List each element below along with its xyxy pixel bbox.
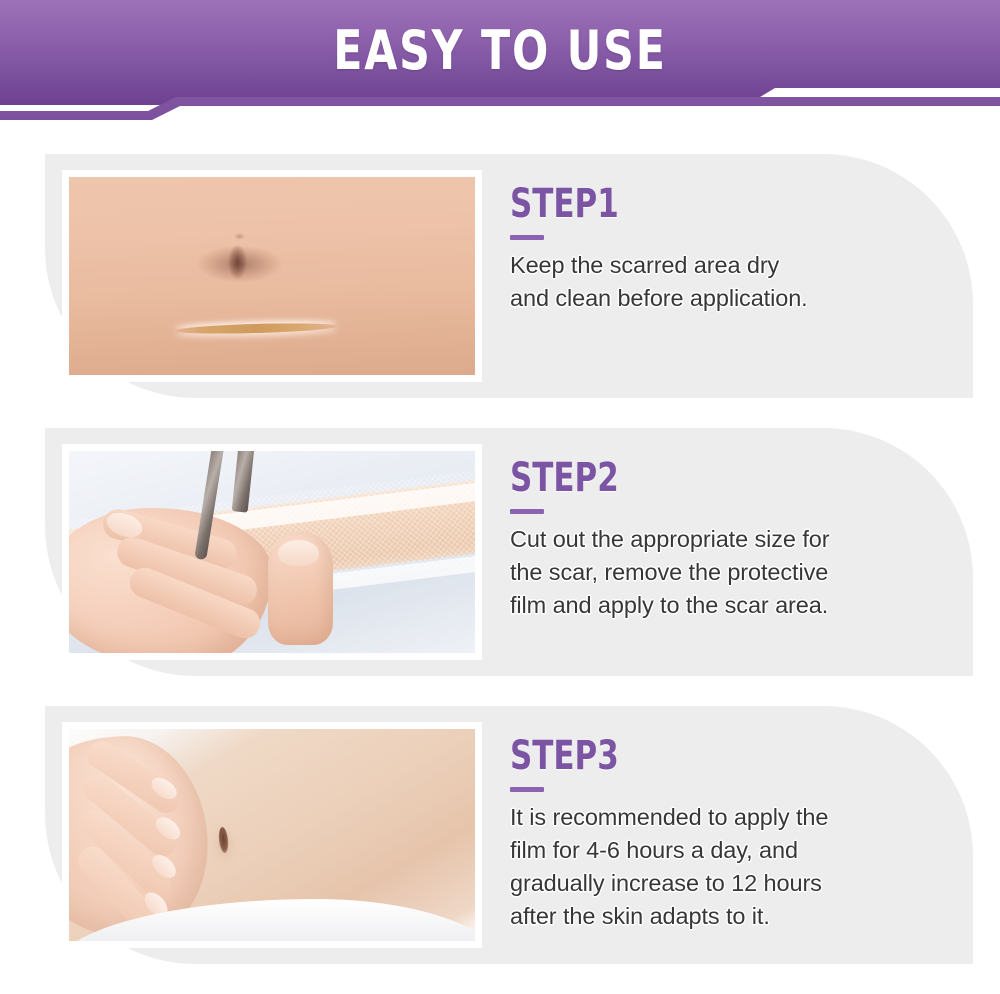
- navel: [218, 826, 230, 853]
- step-1-body-line-1: Keep the scarred area dry: [510, 249, 933, 282]
- scar-photo-image: [69, 177, 475, 375]
- cutting-photo-image: [69, 451, 475, 653]
- step-card-2: STEP2 Cut out the appropriate size for t…: [45, 428, 973, 676]
- step-2-title: STEP2: [510, 458, 874, 498]
- step-2-divider: [510, 509, 544, 514]
- step-2-photo-frame: [62, 444, 482, 660]
- step-1-body: Keep the scarred area dry and clean befo…: [510, 249, 933, 315]
- step-3-body-line-2: film for 4-6 hours a day, and: [510, 834, 933, 867]
- step-1-title: STEP1: [510, 184, 874, 224]
- step-3-body-line-3: gradually increase to 12 hours: [510, 867, 933, 900]
- step-3-body-line-1: It is recommended to apply the: [510, 801, 933, 834]
- step-1-text-block: STEP1 Keep the scarred area dry and clea…: [482, 154, 973, 315]
- scar-on-abdomen-photo: [69, 177, 475, 375]
- step-3-text-block: STEP3 It is recommended to apply the fil…: [482, 706, 973, 933]
- cutting-silicone-sheet-with-scissors-photo: [69, 451, 475, 653]
- abdomen-photo-image: [69, 729, 475, 941]
- step-2-body-line-1: Cut out the appropriate size for: [510, 523, 933, 556]
- hand-on-abdomen-photo: [69, 729, 475, 941]
- step-1-photo-frame: [62, 170, 482, 382]
- step-card-3: STEP3 It is recommended to apply the fil…: [45, 706, 973, 964]
- step-3-body: It is recommended to apply the film for …: [510, 801, 933, 933]
- right-thumb-nail: [278, 540, 319, 566]
- step-3-photo-frame: [62, 722, 482, 948]
- step-2-body-line-3: film and apply to the scar area.: [510, 589, 933, 622]
- header-banner: EASY TO USE: [0, 0, 1000, 122]
- step-3-divider: [510, 787, 544, 792]
- step-3-body-line-4: after the skin adapts to it.: [510, 900, 933, 933]
- step-3-title: STEP3: [510, 736, 874, 776]
- step-1-body-line-2: and clean before application.: [510, 282, 933, 315]
- step-2-body: Cut out the appropriate size for the sca…: [510, 523, 933, 622]
- page-title: EASY TO USE: [60, 20, 940, 82]
- step-1-divider: [510, 235, 544, 240]
- steps-list: STEP1 Keep the scarred area dry and clea…: [0, 154, 1000, 994]
- step-2-body-line-2: the scar, remove the protective: [510, 556, 933, 589]
- step-2-text-block: STEP2 Cut out the appropriate size for t…: [482, 428, 973, 622]
- step-card-1: STEP1 Keep the scarred area dry and clea…: [45, 154, 973, 398]
